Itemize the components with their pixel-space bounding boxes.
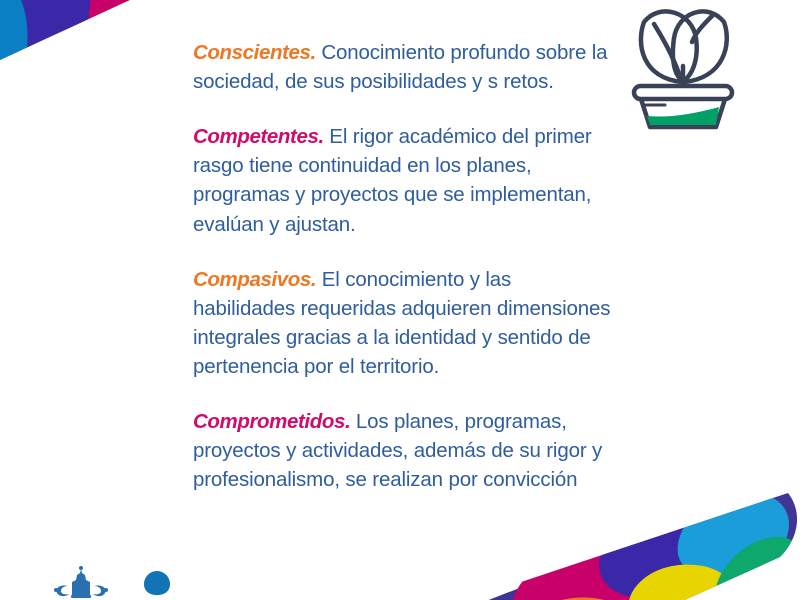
lead-conscientes: Conscientes.: [193, 41, 316, 64]
paragraph-conscientes: Conscientes. Conocimiento profundo sobre…: [193, 38, 613, 96]
text-column: Conscientes. Conocimiento profundo sobre…: [193, 38, 613, 494]
slide-page: Conscientes. Conocimiento profundo sobre…: [0, 0, 800, 600]
blue-blob-mark: [143, 570, 171, 596]
university-crest-logo: [52, 566, 110, 600]
paragraph-competentes: Competentes. El rigor académico del prim…: [193, 122, 613, 238]
top-left-corner-decoration: [0, 0, 130, 60]
paragraph-compasivos: Compasivos. El conocimiento y las habili…: [193, 265, 613, 381]
lead-competentes: Competentes.: [193, 125, 324, 148]
paragraph-comprometidos: Comprometidos. Los planes, programas, pr…: [193, 407, 613, 494]
lead-comprometidos: Comprometidos.: [193, 410, 350, 433]
potted-plant-icon: [620, 0, 750, 131]
lead-compasivos: Compasivos.: [193, 268, 316, 291]
